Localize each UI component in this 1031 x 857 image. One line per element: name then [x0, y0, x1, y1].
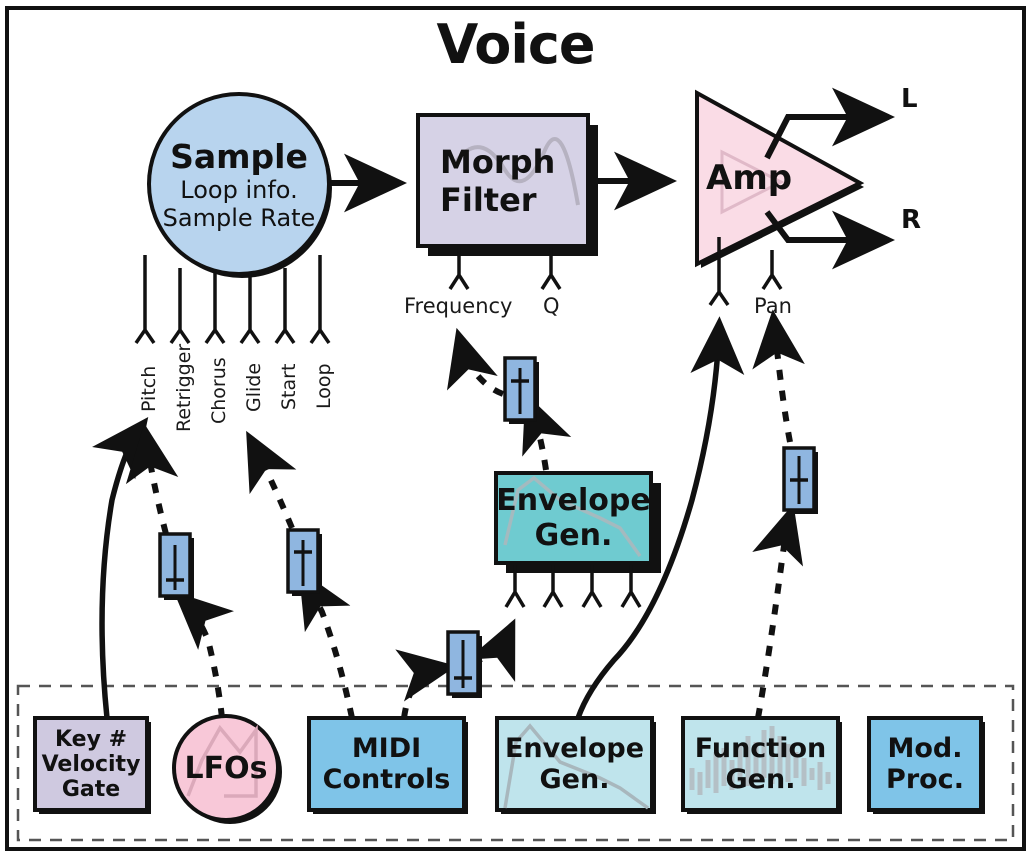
conn-slider-frequency-to-frequency — [460, 340, 503, 394]
mod-source-midi-controls[interactable] — [309, 718, 468, 814]
mod-source-function-gen[interactable] — [683, 718, 842, 814]
mod-source-envelope-gen[interactable] — [497, 718, 656, 814]
pin-label-pan: Pan — [754, 294, 792, 318]
conn-midi-to-slider-midi — [404, 668, 444, 718]
voice-architecture-diagram: Voice — [0, 0, 1031, 857]
mid-envelope-gen-node[interactable] — [496, 473, 661, 573]
morph-filter-node[interactable] — [418, 115, 598, 256]
pin-label-chorus: Chorus — [208, 357, 230, 424]
diagram-canvas — [0, 0, 1031, 857]
conn-lfos-to-slider-pitch — [183, 600, 222, 718]
slider-frequency[interactable] — [505, 358, 539, 424]
conn-key-to-pitch — [102, 428, 140, 718]
conn-slider-glide-to-glide — [252, 442, 292, 528]
mod-source-key-velocity-gate[interactable] — [35, 718, 151, 814]
conn-slider-pan-to-pan — [774, 322, 790, 442]
pin-label-loop: Loop — [313, 363, 335, 409]
output-label-right: R — [901, 205, 921, 235]
slider-pan[interactable] — [784, 448, 818, 514]
mod-source-mod-proc[interactable] — [869, 718, 985, 814]
slider-glide[interactable] — [288, 530, 322, 596]
pin-label-start: Start — [278, 364, 300, 410]
pin-label-glide: Glide — [243, 363, 265, 412]
conn-funcgen-to-slider-pan — [758, 516, 790, 718]
sample-node[interactable] — [149, 94, 332, 278]
slider-pitch[interactable] — [160, 534, 194, 600]
output-label-left: L — [901, 84, 918, 114]
pin-label-q: Q — [543, 294, 560, 318]
conn-midi-to-slider-glide — [305, 580, 352, 718]
slider-midi[interactable] — [448, 632, 482, 698]
pin-label-retrigger: Retrigger — [173, 344, 195, 432]
pin-label-frequency: Frequency — [404, 294, 513, 318]
mod-source-lfos[interactable] — [174, 716, 282, 824]
conn-slider-pitch-to-pitch — [146, 436, 166, 534]
pin-label-pitch: Pitch — [138, 366, 160, 412]
